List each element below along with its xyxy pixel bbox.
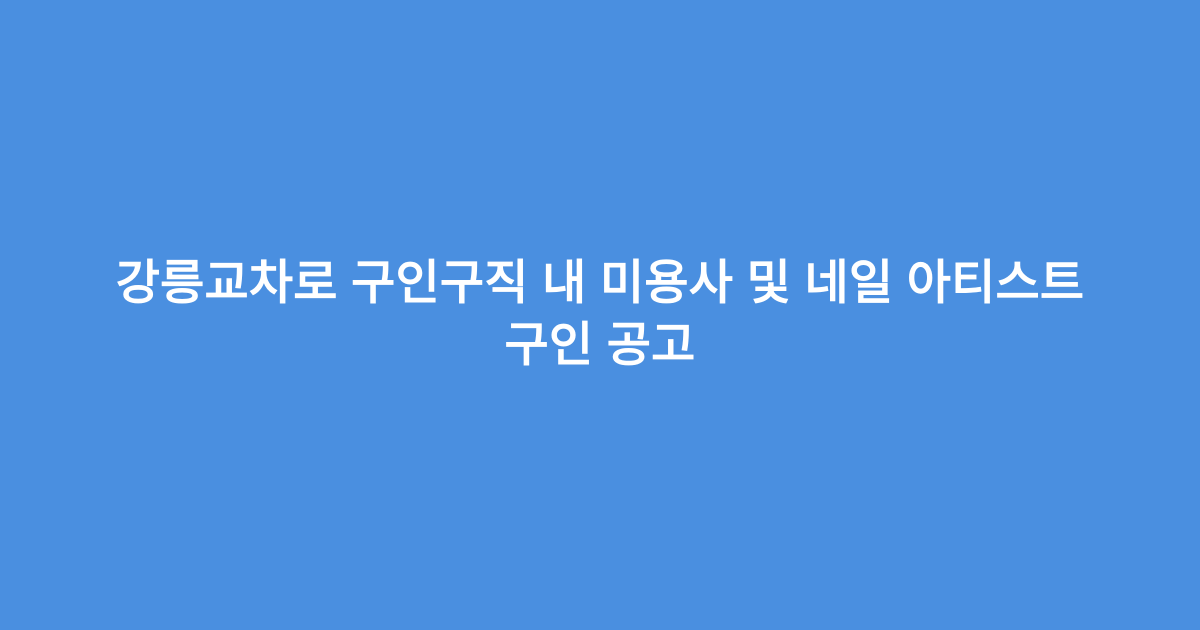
headline-block: 강릉교차로 구인구직 내 미용사 및 네일 아티스트 구인 공고	[0, 253, 1200, 377]
page-title: 강릉교차로 구인구직 내 미용사 및 네일 아티스트 구인 공고	[72, 253, 1128, 377]
og-share-card: 강릉교차로 구인구직 내 미용사 및 네일 아티스트 구인 공고	[0, 0, 1200, 630]
